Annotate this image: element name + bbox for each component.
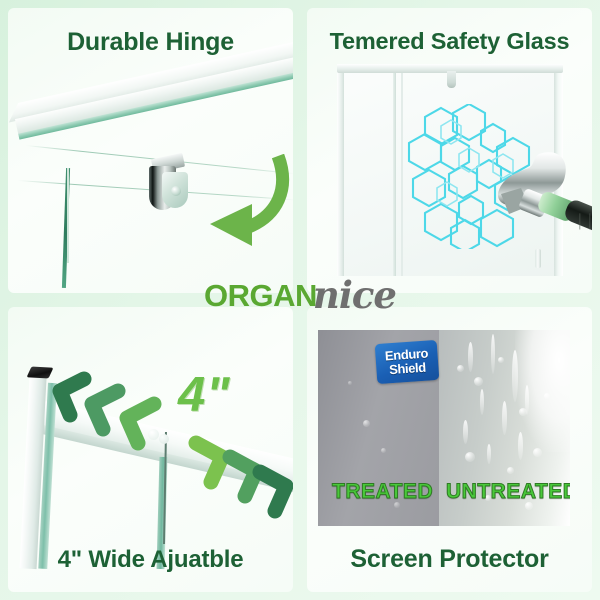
hammer-icon bbox=[495, 148, 592, 258]
panel-screen-protector: Enduro Shield TREATED UNTREATED Screen P… bbox=[307, 307, 592, 592]
panel-wide-adjustable: 4" 4" Wide Ajuatble bbox=[8, 307, 293, 592]
label-treated: TREATED bbox=[332, 480, 433, 504]
photo-window-glare bbox=[515, 330, 570, 452]
hinge-pin bbox=[171, 186, 181, 196]
hinge-illustration bbox=[8, 8, 293, 293]
safety-glass-illustration bbox=[307, 8, 592, 293]
panel-title-wide-adjustable: 4" Wide Ajuatble bbox=[8, 546, 293, 574]
panel-tempered-safety-glass: Temered Safety Glass bbox=[307, 8, 592, 293]
panel-title-screen-protector: Screen Protector bbox=[307, 545, 592, 574]
chrome-hinge-bracket bbox=[148, 156, 188, 216]
comparison-photo: Enduro Shield TREATED UNTREATED bbox=[318, 330, 570, 526]
vertical-glass-highlight bbox=[67, 168, 69, 263]
measurement-label: 4" bbox=[178, 367, 230, 423]
enduroshield-line-2: Shield bbox=[389, 361, 426, 378]
door-roller-bracket bbox=[447, 71, 456, 88]
curved-arrow-icon bbox=[186, 154, 293, 254]
panel-durable-hinge: Durable Hinge bbox=[8, 8, 293, 293]
infographic-root: Durable Hinge Temere bbox=[0, 0, 600, 600]
door-divider-secondary bbox=[401, 73, 403, 276]
label-untreated: UNTREATED bbox=[446, 480, 570, 504]
glass-top-rail bbox=[12, 42, 293, 144]
enduroshield-badge: Enduro Shield bbox=[375, 340, 440, 384]
door-divider bbox=[393, 73, 396, 276]
door-post-left bbox=[337, 64, 344, 276]
